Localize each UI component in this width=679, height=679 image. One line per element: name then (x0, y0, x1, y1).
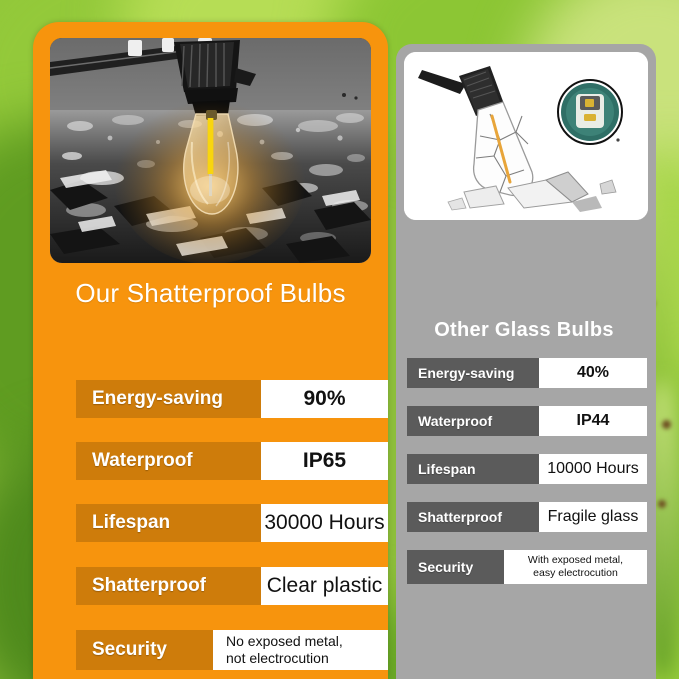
row-label: Waterproof (418, 413, 492, 429)
row-value: 10000 Hours (539, 454, 647, 484)
row-label-chip: Security (76, 630, 213, 670)
row-value-text: 40% (577, 364, 609, 382)
row-value: Fragile glass (539, 502, 647, 532)
table-row: Waterproof IP65 (76, 442, 388, 480)
table-row: Energy-saving 40% (407, 358, 647, 388)
other-glass-bulbs-panel: Other Glass Bulbs Energy-saving 40% Wate… (396, 44, 656, 679)
row-value: No exposed metal, not electrocution (213, 630, 388, 670)
row-value-text: Fragile glass (548, 508, 639, 526)
row-label: Energy-saving (92, 388, 223, 410)
row-label-chip: Energy-saving (407, 358, 539, 388)
row-value: IP44 (539, 406, 647, 436)
row-label: Lifespan (418, 461, 476, 477)
row-label: Energy-saving (418, 365, 514, 381)
row-label: Shatterproof (418, 509, 502, 525)
table-row: Security No exposed metal, not electrocu… (76, 630, 388, 670)
row-value-line-2: easy electrocution (533, 567, 618, 580)
row-label: Waterproof (92, 450, 193, 472)
row-label-chip: Waterproof (76, 442, 261, 480)
table-row: Shatterproof Fragile glass (407, 502, 647, 532)
table-row: Waterproof IP44 (407, 406, 647, 436)
row-value-text: 90% (303, 387, 345, 411)
left-panel-title: Our Shatterproof Bulbs (33, 278, 388, 309)
right-panel-title: Other Glass Bulbs (396, 319, 652, 342)
row-label-chip: Waterproof (407, 406, 539, 436)
table-row: Shatterproof Clear plastic (76, 567, 388, 605)
our-shatterproof-bulbs-panel: Our Shatterproof Bulbs Energy-saving 90%… (33, 22, 388, 679)
row-value: 30000 Hours (261, 504, 388, 542)
table-row: Lifespan 30000 Hours (76, 504, 388, 542)
broken-bulb-svg (404, 52, 648, 220)
row-value: 90% (261, 380, 388, 418)
row-value-text: IP65 (303, 449, 346, 473)
lightbulb-lit-photo (50, 38, 371, 263)
row-value-line-1: No exposed metal, (226, 633, 343, 650)
row-label-chip: Shatterproof (76, 567, 261, 605)
table-row: Lifespan 10000 Hours (407, 454, 647, 484)
bg-leaf-spots (658, 500, 666, 508)
row-label: Security (418, 559, 473, 575)
row-value-text: IP44 (577, 412, 610, 430)
row-label-chip: Shatterproof (407, 502, 539, 532)
row-value-line-1: With exposed metal, (528, 554, 623, 567)
row-value: IP65 (261, 442, 388, 480)
row-label-chip: Energy-saving (76, 380, 261, 418)
row-value-text: Clear plastic (267, 574, 383, 598)
row-value: Clear plastic (261, 567, 388, 605)
table-row: Security With exposed metal, easy electr… (407, 550, 647, 584)
row-label: Security (92, 639, 167, 661)
row-value: With exposed metal, easy electrocution (504, 550, 647, 584)
row-label: Lifespan (92, 512, 170, 534)
row-label-chip: Lifespan (407, 454, 539, 484)
lit-bulb-svg (50, 38, 371, 263)
row-value-line-2: not electrocution (226, 650, 329, 667)
row-label: Shatterproof (92, 575, 206, 597)
row-value-text: 30000 Hours (264, 511, 384, 535)
row-value-text: 10000 Hours (547, 460, 639, 478)
row-label-chip: Security (407, 550, 504, 584)
bg-leaf-spots (662, 420, 671, 429)
row-label-chip: Lifespan (76, 504, 261, 542)
left-panel-title-text: Our Shatterproof Bulbs (75, 278, 345, 308)
broken-bulb-illustration (404, 52, 648, 220)
table-row: Energy-saving 90% (76, 380, 388, 418)
row-value: 40% (539, 358, 647, 388)
